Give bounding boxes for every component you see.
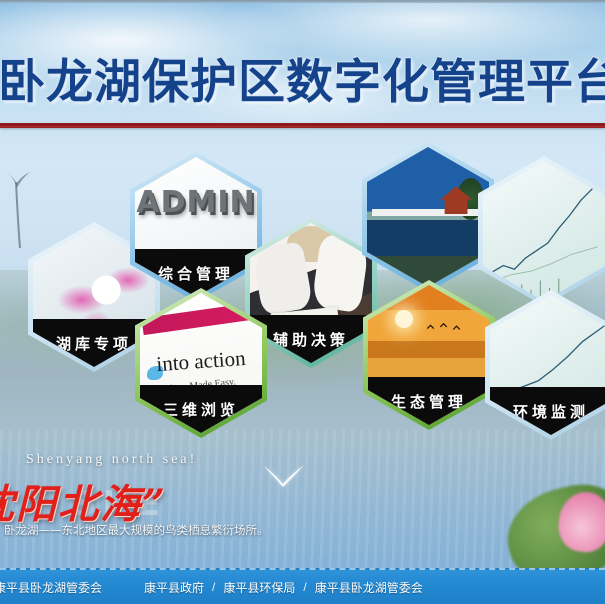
hex-label-comprehensive-management: 综合管理 [158,263,234,284]
hex-label-environmental-monitoring: 环境监测 [513,401,589,422]
hex-label-three-d-browse: 三维浏览 [163,399,239,420]
top-edge-line [0,0,605,3]
photo-detail [395,310,413,328]
admin-overlay-text: ADMIN [135,185,257,220]
footer-link-epb[interactable]: 康平县环保局 [223,579,295,596]
photo-detail [424,321,473,338]
hex-tile-chart-photo[interactable] [478,156,605,306]
into-overlay-text: into action [140,345,262,378]
app-stage: 卧龙湖保护区数字化管理平台 湖库专项 ADMIN 综合管理 [0,0,605,604]
module-hex-grid: 湖库专项 ADMIN 综合管理 [0,128,605,448]
page-header: 卧龙湖保护区数字化管理平台 [0,48,605,122]
footer-link-committee[interactable]: 康平县卧龙湖管委会 [315,579,423,596]
hex-tile-pavilion-photo[interactable] [362,142,494,292]
page-title: 卧龙湖保护区数字化管理平台 [0,48,605,118]
hex-tile-environmental-monitoring[interactable]: 环境监测 [485,290,605,440]
promo-description: 卧龙湖——东北地区最大规模的鸟类栖息繁衍场所。 [4,522,269,538]
hex-tile-ecological-management[interactable]: 生态管理 [363,280,495,430]
hex-label-ecological-management: 生态管理 [391,391,467,412]
footer-separator: / [303,580,306,594]
promo-english-tagline: Shenyang north sea! [26,452,197,468]
hex-label-decision-support: 辅助决策 [273,329,349,350]
footer-link-government[interactable]: 康平县政府 [144,579,204,596]
site-footer: 康平县卧龙湖管委会 康平县政府 / 康平县环保局 / 康平县卧龙湖管委会 [0,568,605,604]
hex-label-lake-reservoir: 湖库专项 [56,333,132,354]
photo-detail [311,234,369,313]
promo-block: Shenyang north sea! SHE 沈阳北海” 卧龙湖——东北地区最… [0,452,360,542]
footer-owner: 康平县卧龙湖管委会 [0,579,102,596]
footer-separator: / [212,580,215,594]
footer-links: 康平县政府 / 康平县环保局 / 康平县卧龙湖管委会 [144,579,423,596]
